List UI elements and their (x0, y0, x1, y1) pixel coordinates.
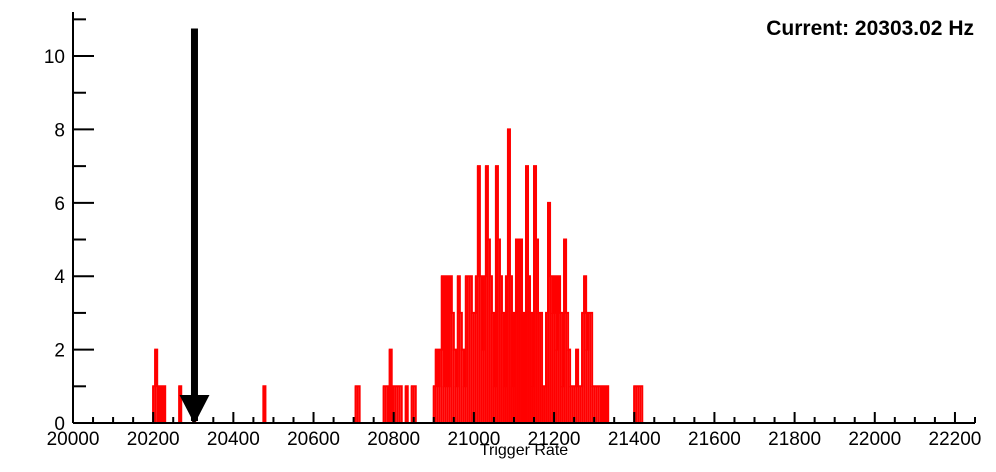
y-tick-label: 8 (54, 120, 65, 141)
histogram-bin (581, 313, 583, 423)
histogram-bin (529, 313, 531, 423)
histogram-bin (439, 350, 441, 423)
histogram-bin (527, 276, 529, 423)
histogram-bin (549, 276, 551, 423)
histogram-bin (565, 313, 567, 423)
histogram-bin (543, 386, 545, 423)
annotations (179, 29, 209, 424)
histogram-bin (531, 386, 533, 423)
histogram-bin (571, 386, 573, 423)
x-tick-label: 22000 (848, 429, 901, 450)
histogram-bin (525, 166, 527, 423)
histogram-bin (437, 386, 439, 423)
histogram-bin (154, 350, 156, 423)
histogram-bin (559, 313, 561, 423)
histogram-bin (567, 350, 569, 423)
histogram-bin (569, 386, 571, 423)
histogram-outline (73, 129, 975, 423)
histogram-bin (563, 240, 565, 423)
histogram-bin (521, 313, 523, 423)
x-axis-title: Trigger Rate (480, 442, 568, 459)
histogram-bin (499, 276, 501, 423)
histogram-bin (511, 386, 513, 423)
histogram-bin (357, 386, 359, 423)
histogram-bin (637, 386, 639, 423)
histogram-bin (385, 386, 387, 423)
histogram-bin (449, 276, 451, 423)
histogram-bin (405, 386, 407, 423)
y-tick-label: 2 (54, 341, 65, 362)
histogram-bin (535, 240, 537, 423)
histogram-bin (479, 276, 481, 423)
histogram-bin (583, 276, 585, 423)
x-tick-label: 22200 (929, 429, 982, 450)
histogram-bin (397, 386, 399, 423)
histogram-bin (513, 313, 515, 423)
trigger-rate-histogram-panel: 2000020200204002060020800210002120021400… (0, 0, 996, 472)
histogram-bin (545, 313, 547, 423)
histogram-bin (445, 276, 447, 423)
histogram-bin (473, 313, 475, 423)
x-tick-label: 20800 (367, 429, 420, 450)
histogram-bin (577, 386, 579, 423)
histogram-bin (471, 313, 473, 423)
histogram-bin (555, 350, 557, 423)
x-tick-label: 20600 (287, 429, 340, 450)
histogram-bin (465, 276, 467, 423)
histogram-bin (635, 386, 637, 423)
histogram-series (73, 129, 975, 423)
histogram-bin (517, 276, 519, 423)
histogram-bin (481, 350, 483, 423)
histogram-bin (461, 350, 463, 423)
histogram-bin (447, 386, 449, 423)
histogram-bin (519, 240, 521, 423)
histogram-bin (605, 386, 607, 423)
histogram-bin (459, 313, 461, 423)
histogram-bin (639, 386, 641, 423)
histogram-bin (383, 386, 385, 423)
y-tick-label: 0 (54, 414, 65, 435)
x-tick-label: 21600 (688, 429, 741, 450)
x-tick-label: 21400 (608, 429, 661, 450)
histogram-bin (533, 166, 535, 423)
histogram-bin (501, 313, 503, 423)
histogram-bin (435, 350, 437, 423)
histogram-bin (158, 386, 160, 423)
histogram-bin (509, 276, 511, 423)
histogram-bin (463, 386, 465, 423)
histogram-bin (497, 240, 499, 423)
histogram-bin (503, 386, 505, 423)
histogram-bin (485, 166, 487, 423)
histogram-bin (395, 386, 397, 423)
histogram-bin (595, 386, 597, 423)
histogram-bin (457, 276, 459, 423)
histogram-bin (453, 350, 455, 423)
histogram-bin (451, 313, 453, 423)
histogram-bin (475, 276, 477, 423)
histogram-bin (547, 203, 549, 423)
histogram-bin (483, 276, 485, 423)
histogram-bin (491, 313, 493, 423)
histogram-bin (557, 276, 559, 423)
histogram-bin (579, 386, 581, 423)
histogram-bin (587, 313, 589, 423)
histogram-bin (539, 313, 541, 423)
histogram-bin (487, 240, 489, 423)
histogram-bin (597, 386, 599, 423)
histogram-bin (477, 166, 479, 423)
histogram-bin (575, 350, 577, 423)
histogram-bin (551, 313, 553, 423)
histogram-bin (561, 386, 563, 423)
x-tick-label: 20400 (207, 429, 260, 450)
y-tick-label: 10 (44, 47, 65, 68)
histogram-bin (505, 276, 507, 423)
histogram-bin (389, 350, 391, 423)
histogram-bin (162, 386, 164, 423)
histogram-bin (537, 313, 539, 423)
histogram-bin (523, 386, 525, 423)
y-tick-label: 4 (54, 267, 65, 288)
histogram-bin (467, 276, 469, 423)
histogram-bin (489, 276, 491, 423)
histogram-bin (515, 240, 517, 423)
histogram-bin (411, 386, 413, 423)
current-rate-readout: Current: 20303.02 Hz (766, 17, 974, 41)
histogram-plot[interactable]: 2000020200204002060020800210002120021400… (0, 0, 996, 472)
histogram-bin (469, 276, 471, 423)
histogram-bin (553, 276, 555, 423)
histogram-bin (589, 313, 591, 423)
y-tick-label: 6 (54, 194, 65, 215)
x-tick-label: 21800 (768, 429, 821, 450)
histogram-bin (541, 386, 543, 423)
histogram-bin (455, 386, 457, 423)
histogram-bin (585, 350, 587, 423)
histogram-bin (495, 166, 497, 423)
histogram-bin (399, 386, 401, 423)
histogram-bin (262, 386, 264, 423)
histogram-bin (507, 129, 509, 423)
histogram-bin (441, 276, 443, 423)
x-tick-label: 20200 (127, 429, 180, 450)
histogram-bin (355, 386, 357, 423)
histogram-bin (178, 386, 180, 423)
current-rate-marker-arrowhead (179, 395, 209, 424)
histogram-bin (591, 386, 593, 423)
histogram-bin (601, 386, 603, 423)
histogram-bin (443, 386, 445, 423)
